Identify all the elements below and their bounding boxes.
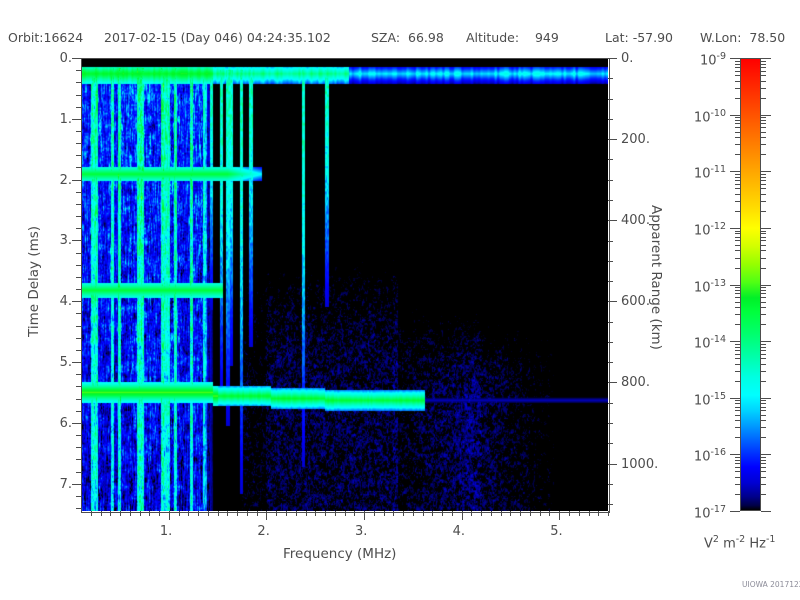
- colorbar-minor-tick: [735, 415, 740, 416]
- x-axis-minor-tick: [384, 511, 385, 516]
- colorbar-minor-tick: [761, 81, 766, 82]
- colorbar-minor-tick: [735, 381, 740, 382]
- y-axis-right-minor-tick: [608, 362, 613, 363]
- y-axis-right-major-tick: [608, 301, 617, 302]
- y-axis-right-minor-tick: [608, 443, 613, 444]
- x-axis-minor-tick: [520, 511, 521, 516]
- colorbar-tick-label: 10-16: [662, 446, 726, 463]
- colorbar-major-tick: [761, 398, 771, 399]
- colorbar-minor-tick: [735, 302, 740, 303]
- colorbar-minor-tick: [761, 201, 766, 202]
- y-axis-left-minor-tick: [76, 95, 81, 96]
- colorbar-minor-tick: [735, 427, 740, 428]
- colorbar-minor-tick: [735, 350, 740, 351]
- colorbar-minor-tick: [735, 71, 740, 72]
- colorbar-minor-tick: [735, 457, 740, 458]
- colorbar-minor-tick: [761, 127, 766, 128]
- colorbar-minor-tick: [735, 297, 740, 298]
- colorbar-minor-tick: [735, 233, 740, 234]
- x-axis-minor-tick: [188, 511, 189, 516]
- colorbar-minor-tick: [761, 457, 766, 458]
- colorbar-minor-tick: [735, 324, 740, 325]
- y-axis-left-minor-tick: [76, 131, 81, 132]
- y-axis-left-minor-tick: [76, 143, 81, 144]
- x-axis-minor-tick: [423, 511, 424, 516]
- credit-label: UIOWA 20171221: [742, 580, 800, 589]
- x-axis-minor-tick: [227, 511, 228, 516]
- colorbar-minor-tick: [761, 471, 766, 472]
- colorbar-minor-tick: [735, 88, 740, 89]
- x-axis-minor-tick: [374, 511, 375, 516]
- y-axis-left-major-tick: [72, 484, 81, 485]
- y-axis-left-minor-tick: [76, 374, 81, 375]
- y-axis-left-minor-tick: [76, 350, 81, 351]
- colorbar-minor-tick: [761, 177, 766, 178]
- y-axis-left-tick-label: 0.: [44, 52, 72, 65]
- colorbar-minor-tick: [761, 410, 766, 411]
- y-axis-right-major-tick: [608, 464, 617, 465]
- y-axis-right-minor-tick: [608, 423, 613, 424]
- y-axis-left-major-tick: [72, 301, 81, 302]
- y-axis-right-major-tick: [608, 220, 617, 221]
- colorbar-minor-tick: [735, 184, 740, 185]
- x-axis-minor-tick: [501, 511, 502, 516]
- y-axis-right-minor-tick: [608, 180, 613, 181]
- metadata-header: Orbit:16624 2017-02-15 (Day 046) 04:24:3…: [0, 28, 800, 48]
- colorbar-minor-tick: [735, 174, 740, 175]
- y-axis-right-minor-tick: [608, 200, 613, 201]
- y-axis-left-minor-tick: [76, 508, 81, 509]
- x-axis-minor-tick: [208, 511, 209, 516]
- colorbar-major-tick: [761, 341, 771, 342]
- colorbar-minor-tick: [735, 463, 740, 464]
- colorbar-minor-tick: [761, 293, 766, 294]
- x-axis-major-tick: [559, 511, 560, 520]
- y-axis-left-major-tick: [72, 423, 81, 424]
- colorbar-minor-tick: [761, 250, 766, 251]
- header-datetime: 2017-02-15 (Day 046) 04:24:35.102: [104, 28, 331, 48]
- colorbar-minor-tick: [735, 437, 740, 438]
- x-axis-minor-tick: [471, 511, 472, 516]
- colorbar-minor-tick: [761, 415, 766, 416]
- x-axis-minor-tick: [335, 511, 336, 516]
- colorbar-minor-tick: [735, 494, 740, 495]
- y-axis-right-tick-label: 600.: [621, 295, 650, 308]
- colorbar-minor-tick: [735, 127, 740, 128]
- y-axis-right-minor-tick: [608, 484, 613, 485]
- x-axis-minor-tick: [413, 511, 414, 516]
- colorbar-minor-tick: [735, 268, 740, 269]
- colorbar-tick-label: 10-15: [662, 390, 726, 407]
- header-latitude: Lat: -57.90: [605, 28, 673, 48]
- colorbar-minor-tick: [761, 477, 766, 478]
- colorbar-major-tick: [761, 228, 771, 229]
- colorbar-minor-tick: [761, 381, 766, 382]
- colorbar-minor-tick: [761, 98, 766, 99]
- x-axis-minor-tick: [569, 511, 570, 516]
- colorbar-minor-tick: [761, 88, 766, 89]
- colorbar-minor-tick: [761, 467, 766, 468]
- x-axis-minor-tick: [452, 511, 453, 516]
- y-axis-left-major-tick: [72, 362, 81, 363]
- colorbar-tick-label: 10-13: [662, 277, 726, 294]
- colorbar-minor-tick: [761, 463, 766, 464]
- colorbar-minor-tick: [735, 120, 740, 121]
- y-axis-right-minor-tick: [608, 119, 613, 120]
- x-axis-major-tick: [462, 511, 463, 520]
- colorbar-minor-tick: [761, 123, 766, 124]
- y-axis-left-major-tick: [72, 58, 81, 59]
- colorbar-minor-tick: [735, 460, 740, 461]
- colorbar-minor-tick: [761, 307, 766, 308]
- colorbar-major-tick: [761, 58, 771, 59]
- colorbar-minor-tick: [761, 233, 766, 234]
- x-axis-minor-tick: [530, 511, 531, 516]
- y-axis-left-major-tick: [72, 240, 81, 241]
- colorbar-minor-tick: [735, 290, 740, 291]
- colorbar-minor-tick: [761, 403, 766, 404]
- x-axis-major-tick: [266, 511, 267, 520]
- x-axis-minor-tick: [393, 511, 394, 516]
- x-axis-minor-tick: [110, 511, 111, 516]
- x-axis-minor-tick: [120, 511, 121, 516]
- colorbar-minor-tick: [735, 177, 740, 178]
- colorbar-minor-tick: [761, 268, 766, 269]
- y-axis-right-minor-tick: [608, 159, 613, 160]
- x-axis-minor-tick: [296, 511, 297, 516]
- colorbar-minor-tick: [735, 144, 740, 145]
- y-axis-right-minor-tick: [608, 281, 613, 282]
- x-axis-minor-tick: [306, 511, 307, 516]
- colorbar-minor-tick: [735, 410, 740, 411]
- colorbar-minor-tick: [761, 245, 766, 246]
- x-axis-minor-tick: [608, 511, 609, 516]
- y-axis-right-minor-tick: [608, 403, 613, 404]
- radargram-image: [81, 58, 608, 511]
- x-axis-minor-tick: [403, 511, 404, 516]
- y-axis-left-minor-tick: [76, 338, 81, 339]
- y-axis-left-minor-tick: [76, 204, 81, 205]
- y-axis-left-title: Time Delay (ms): [26, 226, 42, 337]
- x-axis-minor-tick: [140, 511, 141, 516]
- x-axis-title: Frequency (MHz): [283, 546, 396, 562]
- x-axis-minor-tick: [198, 511, 199, 516]
- x-axis-minor-tick: [247, 511, 248, 516]
- y-axis-left-minor-tick: [76, 70, 81, 71]
- colorbar-major-tick: [730, 285, 740, 286]
- colorbar-minor-tick: [735, 117, 740, 118]
- colorbar-major-tick: [730, 454, 740, 455]
- colorbar-minor-tick: [735, 354, 740, 355]
- colorbar-minor-tick: [761, 71, 766, 72]
- colorbar-minor-tick: [735, 180, 740, 181]
- colorbar-minor-tick: [735, 287, 740, 288]
- y-axis-right-major-tick: [608, 139, 617, 140]
- x-axis-minor-tick: [589, 511, 590, 516]
- colorbar-minor-tick: [735, 344, 740, 345]
- colorbar-minor-tick: [735, 293, 740, 294]
- colorbar-minor-tick: [735, 245, 740, 246]
- header-wlon: W.Lon: 78.50: [700, 28, 785, 48]
- y-axis-right-minor-tick: [608, 322, 613, 323]
- x-axis-tick-label: 2.: [257, 525, 269, 538]
- colorbar-minor-tick: [735, 258, 740, 259]
- colorbar-major-tick: [730, 58, 740, 59]
- colorbar-tick-label: 10-12: [662, 220, 726, 237]
- y-axis-left-minor-tick: [76, 167, 81, 168]
- y-axis-left-minor-tick: [76, 216, 81, 217]
- y-axis-right-tick-label: 200.: [621, 133, 650, 146]
- colorbar-minor-tick: [735, 364, 740, 365]
- y-axis-left-minor-tick: [76, 386, 81, 387]
- y-axis-left-tick-label: 4.: [44, 295, 72, 308]
- y-axis-left-minor-tick: [76, 192, 81, 193]
- colorbar-minor-tick: [761, 484, 766, 485]
- colorbar-minor-tick: [735, 211, 740, 212]
- y-axis-left-minor-tick: [76, 265, 81, 266]
- colorbar-tick-label: 10-10: [662, 107, 726, 124]
- y-axis-left-minor-tick: [76, 459, 81, 460]
- x-axis-minor-tick: [276, 511, 277, 516]
- colorbar-units-label: V2 m-2 Hz-1: [704, 534, 775, 551]
- colorbar: [740, 58, 761, 511]
- colorbar-minor-tick: [761, 154, 766, 155]
- colorbar-minor-tick: [761, 180, 766, 181]
- y-axis-left-minor-tick: [76, 228, 81, 229]
- colorbar-minor-tick: [761, 354, 766, 355]
- colorbar-minor-tick: [735, 201, 740, 202]
- colorbar-minor-tick: [761, 371, 766, 372]
- x-axis-minor-tick: [540, 511, 541, 516]
- colorbar-minor-tick: [735, 154, 740, 155]
- y-axis-right-minor-tick: [608, 504, 613, 505]
- x-axis-minor-tick: [442, 511, 443, 516]
- colorbar-major-tick: [730, 341, 740, 342]
- colorbar-minor-tick: [761, 240, 766, 241]
- y-axis-left-tick-label: 5.: [44, 356, 72, 369]
- y-axis-right-minor-tick: [608, 241, 613, 242]
- x-axis-minor-tick: [237, 511, 238, 516]
- colorbar-major-tick: [761, 454, 771, 455]
- y-axis-left-minor-tick: [76, 155, 81, 156]
- colorbar-minor-tick: [761, 347, 766, 348]
- colorbar-minor-tick: [761, 258, 766, 259]
- colorbar-minor-tick: [735, 132, 740, 133]
- colorbar-minor-tick: [735, 98, 740, 99]
- colorbar-minor-tick: [735, 314, 740, 315]
- y-axis-left-tick-label: 7.: [44, 478, 72, 491]
- x-axis-minor-tick: [101, 511, 102, 516]
- x-axis-minor-tick: [257, 511, 258, 516]
- colorbar-minor-tick: [761, 137, 766, 138]
- x-axis-tick-label: 4.: [453, 525, 465, 538]
- colorbar-minor-tick: [761, 314, 766, 315]
- colorbar-minor-tick: [761, 194, 766, 195]
- header-altitude: Altitude: 949: [466, 28, 559, 48]
- x-axis-minor-tick: [598, 511, 599, 516]
- y-axis-right-minor-tick: [608, 342, 613, 343]
- y-axis-left-minor-tick: [76, 253, 81, 254]
- colorbar-minor-tick: [761, 420, 766, 421]
- x-axis-tick-label: 1.: [160, 525, 172, 538]
- colorbar-minor-tick: [735, 240, 740, 241]
- colorbar-minor-tick: [735, 371, 740, 372]
- colorbar-minor-tick: [761, 350, 766, 351]
- y-axis-left-major-tick: [72, 180, 81, 181]
- x-axis-minor-tick: [510, 511, 511, 516]
- x-axis-tick-label: 3.: [355, 525, 367, 538]
- colorbar-minor-tick: [761, 407, 766, 408]
- colorbar-minor-tick: [735, 61, 740, 62]
- y-axis-right-tick-label: 0.: [621, 52, 633, 65]
- colorbar-minor-tick: [735, 237, 740, 238]
- colorbar-minor-tick: [761, 344, 766, 345]
- colorbar-minor-tick: [735, 250, 740, 251]
- x-axis-minor-tick: [315, 511, 316, 516]
- x-axis-minor-tick: [149, 511, 150, 516]
- y-axis-right-minor-tick: [608, 78, 613, 79]
- colorbar-minor-tick: [761, 75, 766, 76]
- y-axis-left-minor-tick: [76, 472, 81, 473]
- colorbar-tick-label: 10-17: [662, 503, 726, 520]
- colorbar-minor-tick: [735, 407, 740, 408]
- colorbar-minor-tick: [735, 81, 740, 82]
- x-axis-minor-tick: [130, 511, 131, 516]
- colorbar-minor-tick: [761, 231, 766, 232]
- x-axis-minor-tick: [345, 511, 346, 516]
- colorbar-minor-tick: [735, 477, 740, 478]
- colorbar-minor-tick: [735, 400, 740, 401]
- y-axis-right-tick-label: 1000.: [621, 458, 658, 471]
- colorbar-minor-tick: [735, 188, 740, 189]
- y-axis-left-minor-tick: [76, 435, 81, 436]
- y-axis-left-tick-label: 2.: [44, 174, 72, 187]
- colorbar-major-tick: [730, 398, 740, 399]
- colorbar-major-tick: [730, 511, 740, 512]
- y-axis-right-tick-label: 800.: [621, 376, 650, 389]
- colorbar-minor-tick: [735, 67, 740, 68]
- y-axis-left-tick-label: 3.: [44, 234, 72, 247]
- colorbar-tick-label: 10-11: [662, 163, 726, 180]
- colorbar-minor-tick: [735, 231, 740, 232]
- colorbar-minor-tick: [761, 64, 766, 65]
- radargram-plot: [81, 58, 608, 511]
- colorbar-minor-tick: [761, 184, 766, 185]
- colorbar-major-tick: [761, 511, 771, 512]
- colorbar-minor-tick: [735, 358, 740, 359]
- colorbar-minor-tick: [761, 324, 766, 325]
- colorbar-minor-tick: [761, 120, 766, 121]
- y-axis-left-minor-tick: [76, 447, 81, 448]
- colorbar-minor-tick: [735, 403, 740, 404]
- colorbar-minor-tick: [761, 237, 766, 238]
- colorbar-minor-tick: [761, 400, 766, 401]
- x-axis-minor-tick: [579, 511, 580, 516]
- y-axis-right-minor-tick: [608, 99, 613, 100]
- colorbar-minor-tick: [735, 64, 740, 65]
- x-axis-minor-tick: [91, 511, 92, 516]
- colorbar-minor-tick: [735, 75, 740, 76]
- colorbar-minor-tick: [735, 471, 740, 472]
- header-orbit: Orbit:16624: [8, 28, 83, 48]
- y-axis-left-major-tick: [72, 119, 81, 120]
- colorbar-major-tick: [730, 171, 740, 172]
- colorbar-major-tick: [730, 228, 740, 229]
- colorbar-major-tick: [761, 171, 771, 172]
- y-axis-left-tick-label: 6.: [44, 417, 72, 430]
- x-axis-minor-tick: [325, 511, 326, 516]
- colorbar-minor-tick: [761, 61, 766, 62]
- x-axis-minor-tick: [481, 511, 482, 516]
- colorbar-minor-tick: [761, 302, 766, 303]
- y-axis-right-minor-tick: [608, 261, 613, 262]
- colorbar-minor-tick: [735, 137, 740, 138]
- header-sza: SZA: 66.98: [371, 28, 444, 48]
- y-axis-left-minor-tick: [76, 82, 81, 83]
- colorbar-minor-tick: [761, 427, 766, 428]
- colorbar-minor-tick: [761, 437, 766, 438]
- colorbar-tick-label: 10-14: [662, 333, 726, 350]
- colorbar-minor-tick: [735, 194, 740, 195]
- colorbar-minor-tick: [735, 420, 740, 421]
- colorbar-minor-tick: [761, 132, 766, 133]
- x-axis-minor-tick: [179, 511, 180, 516]
- x-axis-minor-tick: [218, 511, 219, 516]
- colorbar-major-tick: [761, 115, 771, 116]
- y-axis-left-minor-tick: [76, 399, 81, 400]
- y-axis-left-minor-tick: [76, 411, 81, 412]
- colorbar-minor-tick: [735, 467, 740, 468]
- x-axis-major-tick: [364, 511, 365, 520]
- colorbar-minor-tick: [761, 460, 766, 461]
- x-axis-minor-tick: [286, 511, 287, 516]
- colorbar-tick-label: 10-9: [662, 50, 726, 67]
- x-axis-tick-label: 5.: [550, 525, 562, 538]
- y-axis-left-minor-tick: [76, 496, 81, 497]
- x-axis-minor-tick: [354, 511, 355, 516]
- y-axis-left-minor-tick: [76, 107, 81, 108]
- colorbar-minor-tick: [761, 67, 766, 68]
- colorbar-minor-tick: [761, 494, 766, 495]
- y-axis-left-minor-tick: [76, 326, 81, 327]
- y-axis-right-major-tick: [608, 382, 617, 383]
- colorbar-major-tick: [761, 285, 771, 286]
- colorbar-minor-tick: [735, 123, 740, 124]
- colorbar-major-tick: [730, 115, 740, 116]
- colorbar-gradient: [740, 58, 761, 511]
- y-axis-left-tick-label: 1.: [44, 113, 72, 126]
- colorbar-minor-tick: [761, 188, 766, 189]
- colorbar-minor-tick: [735, 307, 740, 308]
- y-axis-right-major-tick: [608, 58, 617, 59]
- colorbar-minor-tick: [761, 287, 766, 288]
- y-axis-right-tick-label: 400.: [621, 214, 650, 227]
- colorbar-minor-tick: [735, 484, 740, 485]
- y-axis-left-minor-tick: [76, 289, 81, 290]
- colorbar-minor-tick: [761, 174, 766, 175]
- x-axis-minor-tick: [549, 511, 550, 516]
- y-axis-left-minor-tick: [76, 277, 81, 278]
- colorbar-minor-tick: [761, 290, 766, 291]
- x-axis-minor-tick: [432, 511, 433, 516]
- colorbar-minor-tick: [735, 347, 740, 348]
- y-axis-left-minor-tick: [76, 313, 81, 314]
- colorbar-minor-tick: [761, 297, 766, 298]
- colorbar-minor-tick: [761, 144, 766, 145]
- x-axis-minor-tick: [491, 511, 492, 516]
- x-axis-major-tick: [169, 511, 170, 520]
- colorbar-minor-tick: [761, 117, 766, 118]
